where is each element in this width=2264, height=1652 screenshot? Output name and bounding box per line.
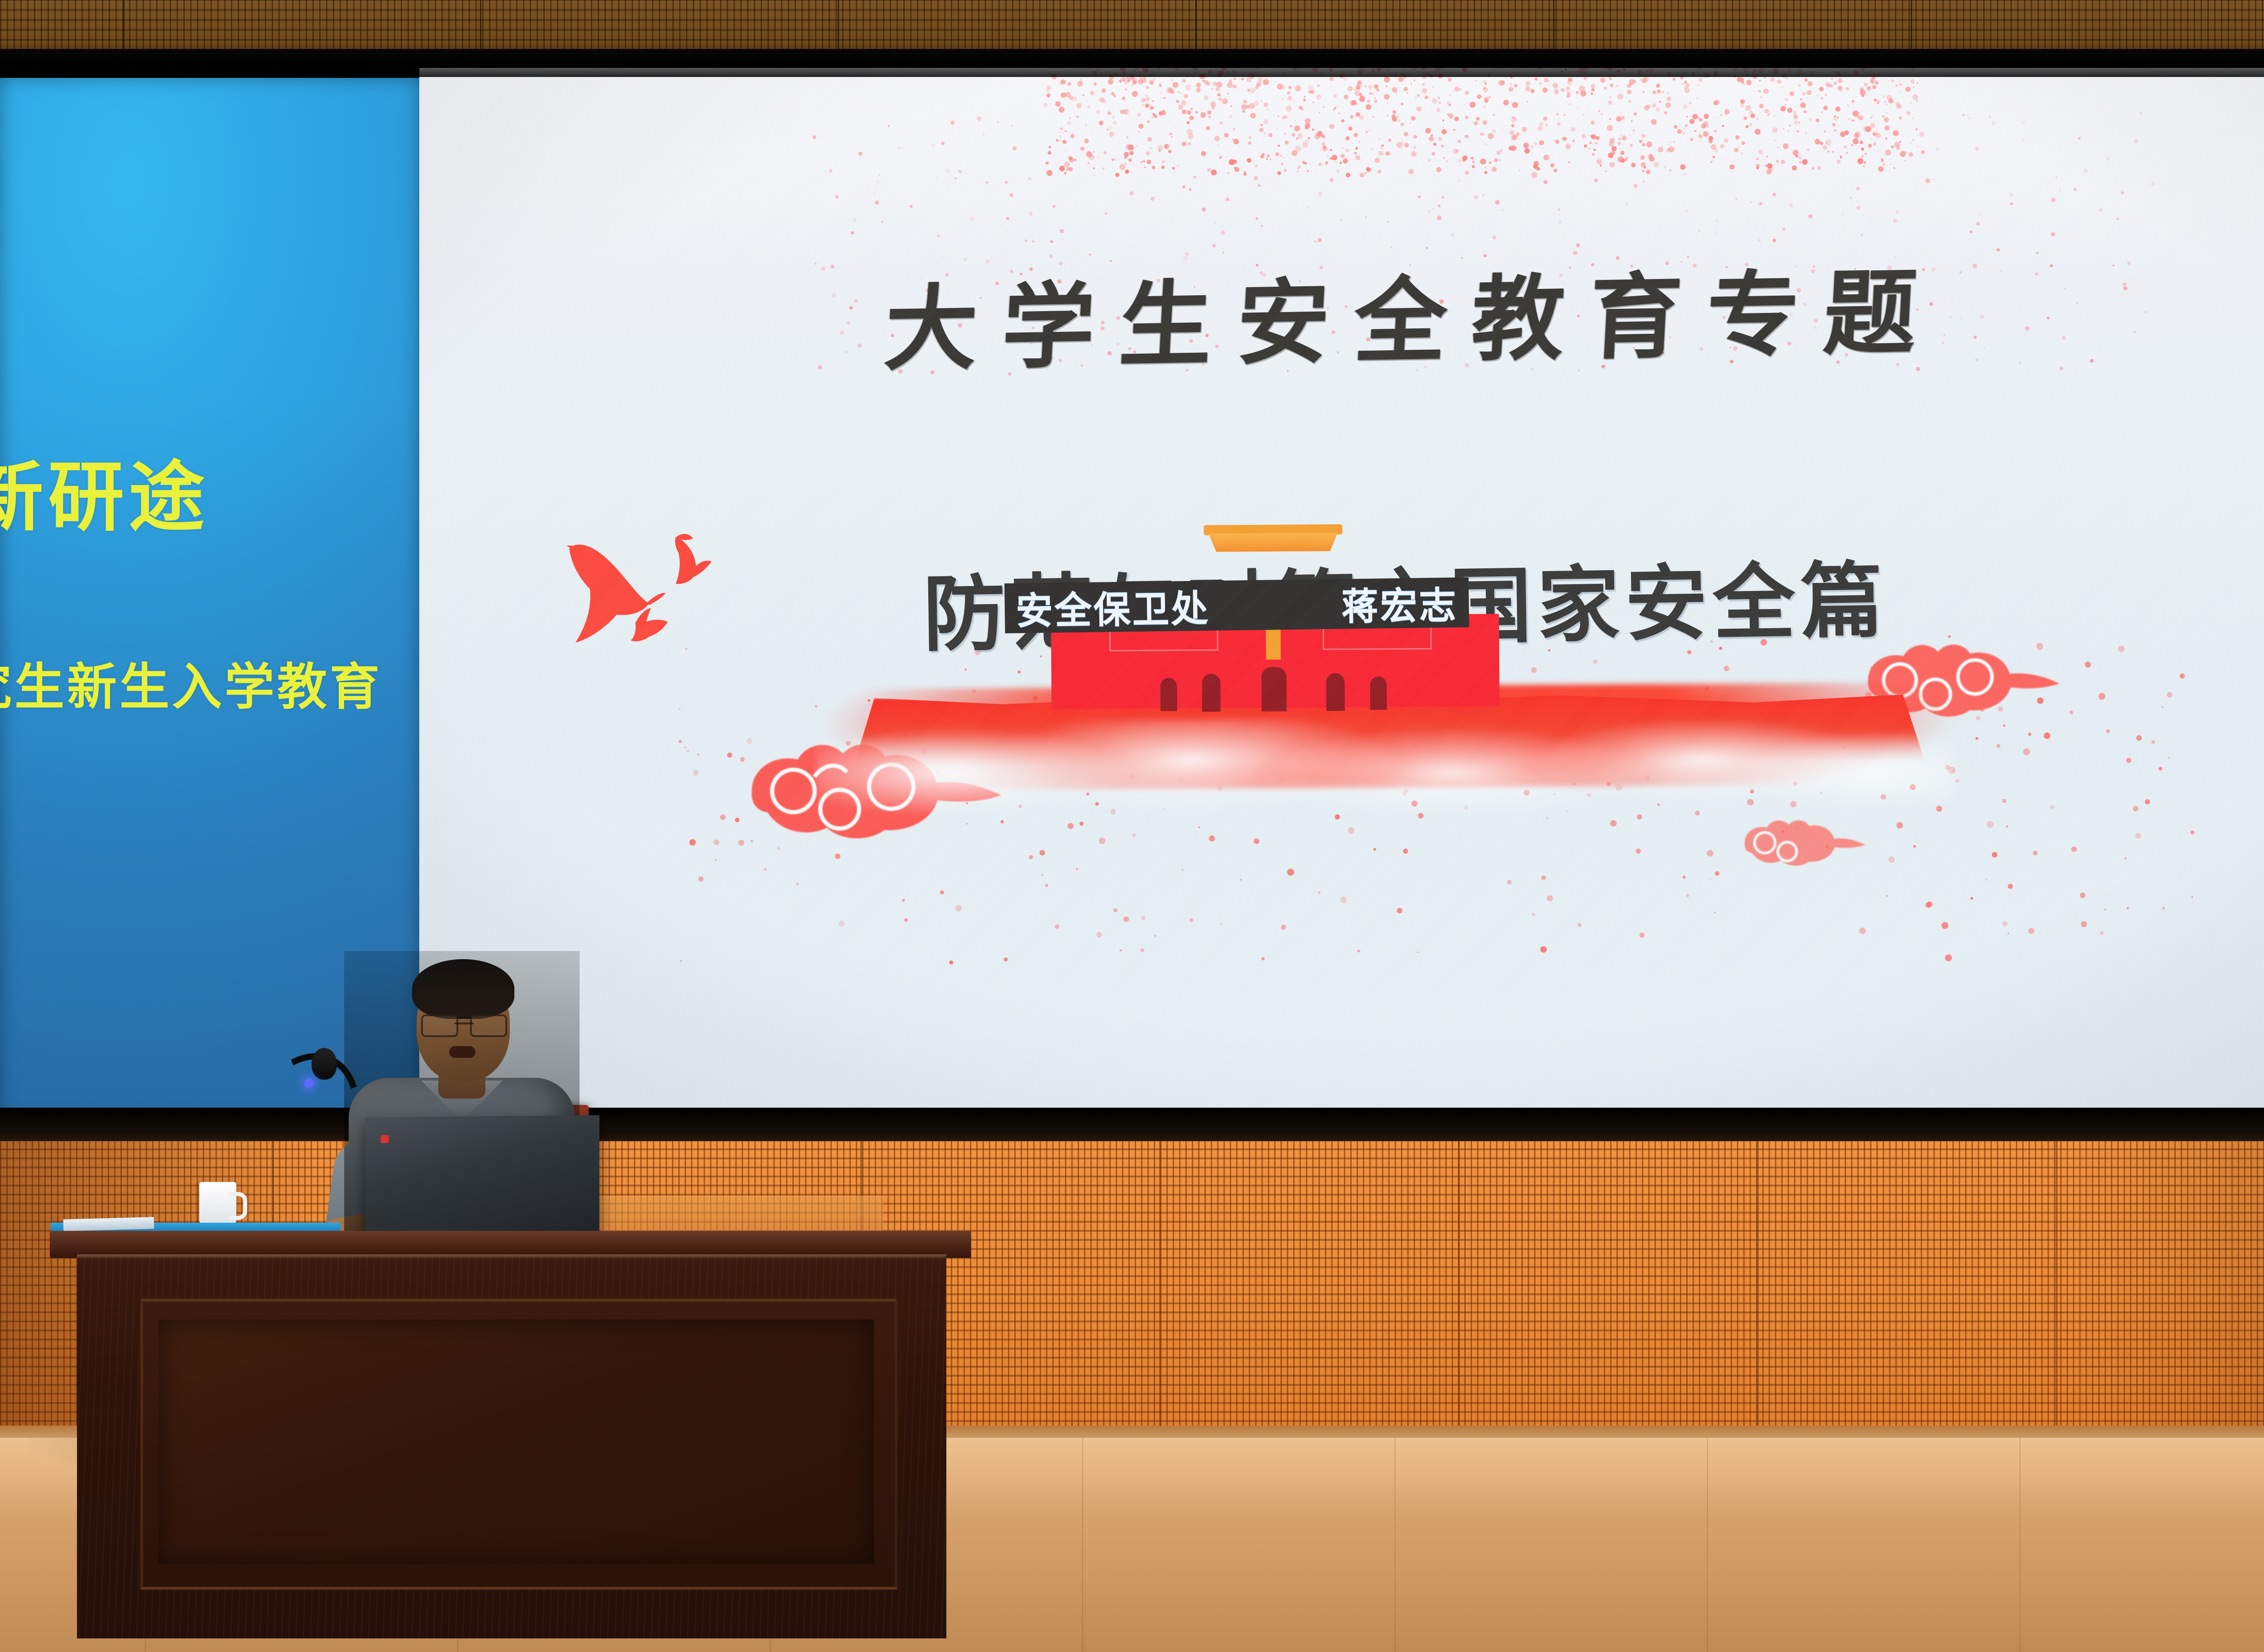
microphone [254, 1055, 371, 1245]
tea-cup [199, 1182, 236, 1225]
white-mist [816, 715, 1952, 814]
upper-acoustic-wall [0, 0, 2264, 51]
lecture-hall-photo: 程新研途 研究生新生入学教育 9日 大学生安全教育专题 防范与对策之国家安全篇 [0, 0, 2264, 1652]
microphone-led-icon [304, 1079, 313, 1088]
left-screen-title: 程新研途 [0, 436, 209, 546]
laptop [365, 1115, 599, 1237]
presenter-name-bar: 安全保卫处 蒋宏志 [1004, 577, 1469, 634]
desk-papers [63, 1217, 154, 1231]
laptop-logo-icon [381, 1135, 389, 1143]
auspicious-cloud-icon [1731, 807, 1870, 878]
presenter-desk [50, 1231, 971, 1638]
main-projection-slide: 大学生安全教育专题 防范与对策之国家安全篇 [419, 68, 2264, 1119]
presenter-name: 蒋宏志 [1341, 576, 1458, 631]
presenter-department: 安全保卫处 [1016, 579, 1210, 635]
glasses-icon [421, 1014, 507, 1034]
left-screen-subtitle: 研究生新生入学教育 [0, 646, 382, 719]
slide-calligraphy-title: 大学生安全教育专题 [419, 229, 2264, 396]
left-screen-date: 9日 [0, 916, 4, 984]
